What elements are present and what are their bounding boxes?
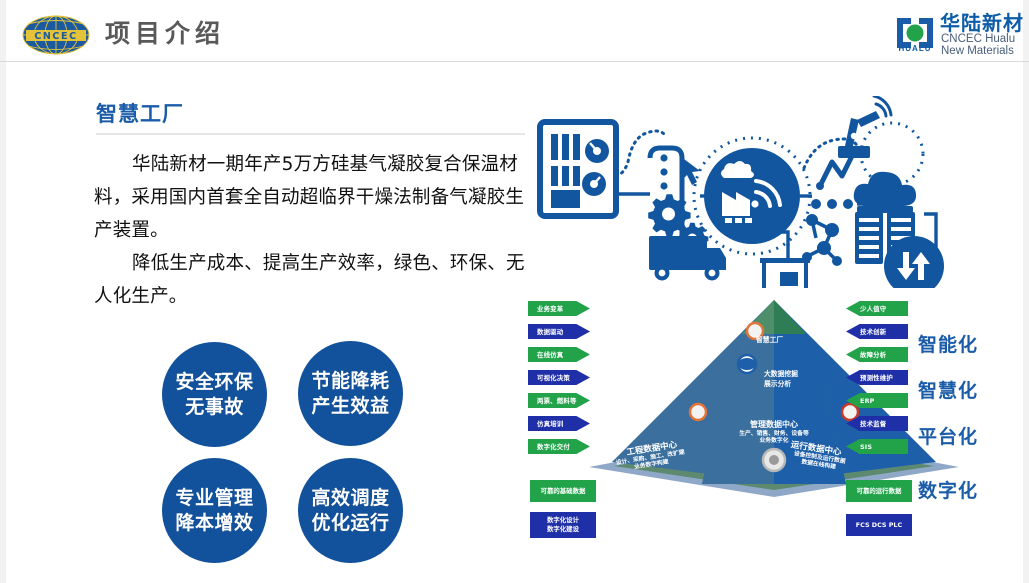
slide-root: CNCEC 项目介绍 HUALU 华陆新材 CNCEC Hualu New Ma… [0,0,1029,583]
cncec-logo-label: CNCEC [34,31,77,42]
page-title: 项目介绍 [105,18,225,50]
robot-arm-icon [838,96,891,158]
right-box-1: 可靠的运行数据 [846,480,912,502]
left-tag-4: 可视化决策 [528,370,590,385]
circle-line-1: 专业管理 [175,486,253,511]
section-title-underline [96,133,525,135]
category-platform: 平台化 [918,422,978,449]
category-smart: 智慧化 [918,376,978,403]
left-box-2-line2: 数字化建设 [547,525,579,534]
right-box-2: FCS DCS PLC [846,514,912,536]
circle-line-2: 产生效益 [311,394,389,419]
circle-line-1: 高效调度 [311,486,389,511]
highlight-circle-management: 专业管理 降本增效 [162,458,267,563]
left-tag-3: 在线仿真 [528,347,590,362]
right-box-1-label: 可靠的运行数据 [857,487,902,496]
section-title: 智慧工厂 [96,98,184,128]
progress-dots-icon [811,199,853,209]
factory-circle-icon [694,138,810,254]
hualu-brand-en-line2: New Materials [941,45,1014,58]
left-tag-2: 数据驱动 [528,324,590,339]
pyramid-level-2-sub: 展示分析 [764,380,834,388]
highlight-circle-energy: 节能降耗 产生效益 [298,341,403,446]
hualu-brand-cn: 华陆新材 [940,12,1024,34]
left-box-1: 可靠的基础数据 [530,480,596,502]
left-box-2-line1: 数字化设计 [547,516,579,525]
left-box-2: 数字化设计 数字化建设 [530,512,596,538]
circle-line-1: 节能降耗 [311,369,389,394]
smart-factory-pyramid-diagram: 智慧工厂 大数据挖掘 展示分析 管理数据中心 生产、销售、财务、设备等 业务数字… [524,292,1024,544]
right-box-2-label: FCS DCS PLC [856,521,902,530]
circle-line-2: 无事故 [185,395,244,420]
hualu-wordmark: HUALU [893,44,937,53]
pyramid-level-1-label: 智慧工厂 [756,336,826,344]
category-digital: 数字化 [918,476,978,503]
industry-illustration [524,96,1024,288]
pyramid-level-3-label: 管理数据中心 [724,420,824,430]
body-paragraph-1: 华陆新材一期年产5万方硅基气凝胶复合保温材料，采用国内首套全自动超临界干燥法制备… [94,148,536,247]
body-paragraph-2: 降低生产成本、提高生产效率，绿色、环保、无人化生产。 [94,247,536,313]
header-divider [0,61,1029,62]
left-tag-1: 业务变革 [528,301,590,316]
left-box-1-label: 可靠的基础数据 [541,487,586,496]
pyramid-badge-left [690,404,706,420]
cncec-logo-icon: CNCEC [18,14,94,56]
left-tag-5: 两票、燃料等 [528,393,590,408]
highlight-circle-safety: 安全环保 无事故 [162,342,267,447]
left-tag-7: 数字化交付 [528,439,590,454]
pyramid-badge-right [842,404,858,420]
cloud-icon [854,172,916,206]
circle-line-1: 安全环保 [175,370,253,395]
circle-line-2: 优化运行 [311,511,389,536]
circle-line-2: 降本增效 [175,511,253,536]
pyramid-level-2-label: 大数据挖掘 [764,370,834,378]
highlight-circle-scheduling: 高效调度 优化运行 [298,458,403,563]
tablet-dashboard-icon [540,122,616,216]
slide-header: CNCEC 项目介绍 HUALU 华陆新材 CNCEC Hualu New Ma… [0,0,1029,62]
line-chart-icon [816,148,858,190]
body-text-block: 华陆新材一期年产5万方硅基气凝胶复合保温材料，采用国内首套全自动超临界干燥法制备… [94,148,536,313]
category-intelligent: 智能化 [918,330,978,357]
left-tag-6: 仿真培训 [528,416,590,431]
dotted-link-1 [616,131,664,176]
left-edge-strip [0,0,6,583]
truck-icon [649,236,726,281]
